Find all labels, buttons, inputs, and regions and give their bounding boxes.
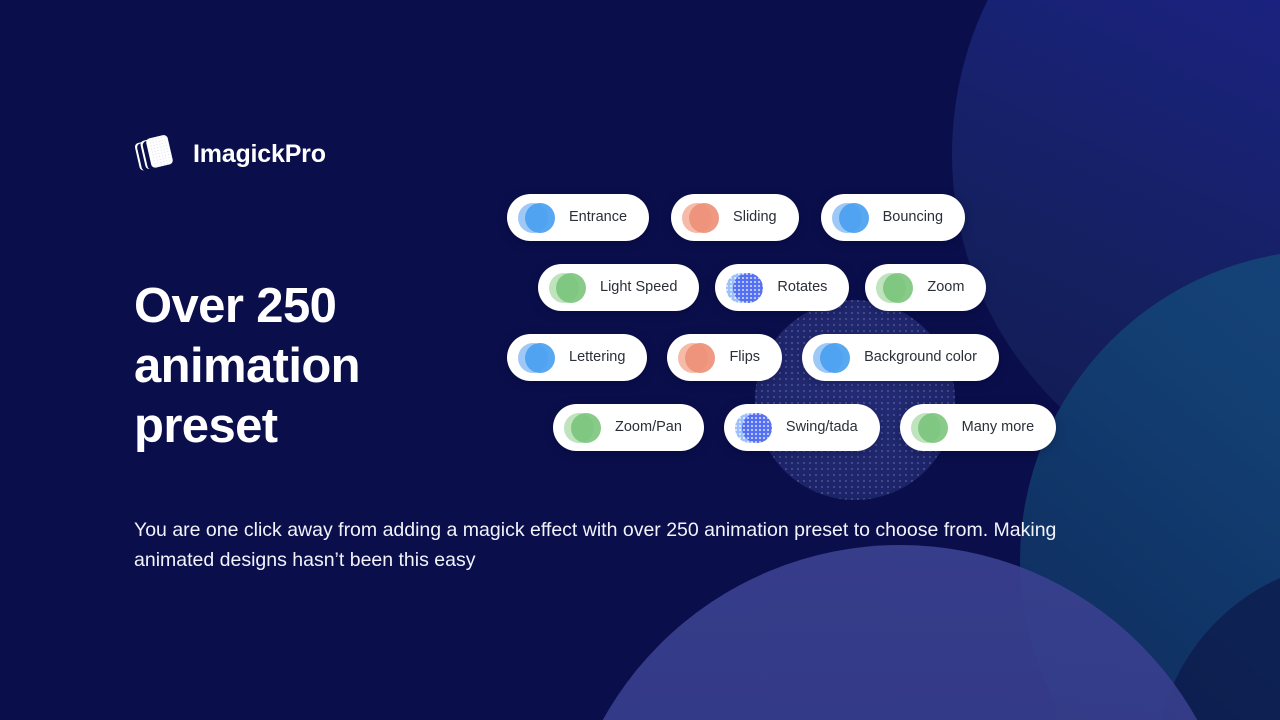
preset-chip-label: Rotates [777,280,827,295]
preset-chip-label: Swing/tada [786,420,858,435]
preset-chip-rotates[interactable]: Rotates [715,264,849,311]
preset-chip-bouncing[interactable]: Bouncing [821,194,965,241]
preset-chip-zoom-pan[interactable]: Zoom/Pan [553,404,704,451]
preset-chip-zoom[interactable]: Zoom [865,264,986,311]
preset-chip-label: Zoom/Pan [615,420,682,435]
preset-chip-row: LetteringFlipsBackground color [507,334,999,381]
overlapping-circles-icon [549,273,586,303]
overlapping-circles-icon [518,343,555,373]
preset-chip-label: Bouncing [883,210,943,225]
preset-chip-label: Entrance [569,210,627,225]
preset-chip-label: Lettering [569,350,625,365]
preset-chip-background-color[interactable]: Background color [802,334,999,381]
background-blob-right-middle [1020,250,1280,720]
preset-chip-flips[interactable]: Flips [667,334,782,381]
preset-chip-label: Zoom [927,280,964,295]
overlapping-circles-icon [678,343,715,373]
preset-chip-label: Background color [864,350,977,365]
preset-chip-label: Many more [962,420,1035,435]
background-blob-bottom-right [1155,560,1280,720]
overlapping-circles-icon [876,273,913,303]
overlapping-circles-icon [726,273,763,303]
preset-chip-label: Flips [729,350,760,365]
overlapping-circles-icon [518,203,555,233]
overlapping-circles-icon [911,413,948,443]
preset-chip-light-speed[interactable]: Light Speed [538,264,699,311]
brand-logo[interactable]: ImagickPro [134,132,326,176]
preset-chip-lettering[interactable]: Lettering [507,334,647,381]
overlapping-circles-icon [735,413,772,443]
preset-chip-row: EntranceSlidingBouncing [507,194,965,241]
page-title: Over 250 animation preset [134,277,464,456]
preset-chip-swing-tada[interactable]: Swing/tada [724,404,880,451]
background-dotted-circle [755,300,955,500]
preset-chip-row: Light SpeedRotatesZoom [538,264,986,311]
brand-name: ImagickPro [193,142,326,167]
overlapping-circles-icon [564,413,601,443]
preset-chip-sliding[interactable]: Sliding [671,194,799,241]
page-description: You are one click away from adding a mag… [134,516,1059,575]
preset-chip-label: Sliding [733,210,777,225]
preset-chip-label: Light Speed [600,280,677,295]
preset-chip-row: Zoom/PanSwing/tadaMany more [553,404,1056,451]
preset-chip-many-more[interactable]: Many more [900,404,1057,451]
overlapping-circles-icon [832,203,869,233]
overlapping-circles-icon [813,343,850,373]
preset-chip-entrance[interactable]: Entrance [507,194,649,241]
stacked-cards-icon [134,132,180,176]
promo-slide: ImagickPro Over 250 animation preset You… [0,0,1280,720]
overlapping-circles-icon [682,203,719,233]
